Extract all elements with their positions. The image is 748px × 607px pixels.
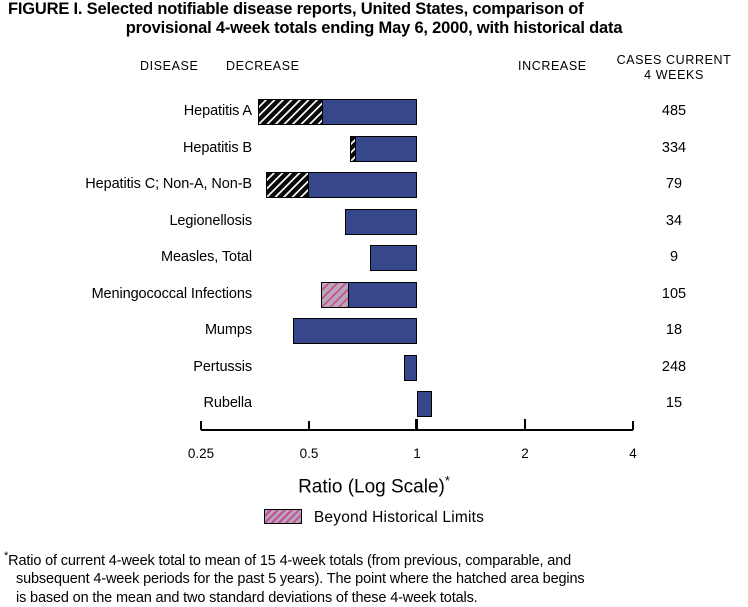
bar-segment-decrease	[308, 172, 418, 198]
bar-segment-decrease	[355, 136, 417, 162]
bar-segment-hatched	[258, 99, 324, 125]
bar-segment-beyond-historical-limits	[321, 282, 350, 308]
cases-current-4-weeks-value: 334	[598, 140, 748, 156]
x-axis-title-footnote-marker: *	[445, 473, 450, 488]
cases-current-4-weeks-value: 9	[598, 249, 748, 265]
cases-current-4-weeks-value: 485	[598, 103, 748, 119]
x-axis-title: Ratio (Log Scale)*	[0, 473, 748, 498]
disease-label: Legionellosis	[169, 213, 252, 229]
figure-footnote: *Ratio of current 4-week total to mean o…	[4, 547, 748, 607]
x-axis-tick-label: 0.25	[171, 446, 231, 461]
x-axis-tick-label: 0.5	[279, 446, 339, 461]
bar-segment-hatched	[266, 172, 309, 198]
legend-label-beyond-historical-limits: Beyond Historical Limits	[314, 509, 484, 526]
footnote-line-1: *Ratio of current 4-week total to mean o…	[4, 547, 748, 570]
disease-label: Pertussis	[193, 359, 252, 375]
disease-label: Measles, Total	[161, 249, 252, 265]
cases-current-4-weeks-value: 34	[598, 213, 748, 229]
disease-label: Hepatitis A	[184, 103, 252, 119]
x-axis-tick	[632, 421, 634, 430]
beyond-historical-limits-swatch	[264, 509, 302, 524]
footnote-line-2: subsequent 4-week periods for the past 5…	[4, 570, 748, 589]
x-axis-tick	[200, 421, 202, 430]
footnote-line-3: is based on the mean and two standard de…	[4, 589, 748, 607]
bar-segment-decrease	[293, 318, 417, 344]
cases-current-4-weeks-value: 18	[598, 322, 748, 338]
footnote-line-1-text: Ratio of current 4-week total to mean of…	[8, 553, 571, 569]
bar-segment-decrease	[348, 282, 417, 308]
cases-current-4-weeks-value: 15	[598, 395, 748, 411]
x-axis-title-text: Ratio (Log Scale)	[298, 476, 445, 497]
cases-current-4-weeks-value: 248	[598, 359, 748, 375]
bar-segment-decrease	[404, 355, 417, 381]
bar-segment-decrease	[345, 209, 417, 235]
bar-segment-decrease	[370, 245, 417, 271]
x-axis-tick	[416, 419, 418, 430]
cases-current-4-weeks-value: 79	[598, 176, 748, 192]
chart-legend: Beyond Historical Limits	[0, 509, 748, 527]
bar-segment-decrease	[322, 99, 417, 125]
x-axis-tick-label: 2	[495, 446, 555, 461]
cases-current-4-weeks-value: 105	[598, 286, 748, 302]
disease-label: Rubella	[204, 395, 252, 411]
disease-label: Hepatitis C; Non-A, Non-B	[85, 176, 252, 192]
disease-label: Mumps	[205, 322, 252, 338]
disease-label: Meningococcal Infections	[92, 286, 252, 302]
x-axis-tick-label: 4	[603, 446, 663, 461]
disease-label: Hepatitis B	[183, 140, 252, 156]
x-axis-tick	[308, 421, 310, 430]
x-axis-tick-label: 1	[387, 446, 447, 461]
bar-segment-increase	[417, 391, 432, 417]
x-axis-tick	[524, 419, 526, 430]
